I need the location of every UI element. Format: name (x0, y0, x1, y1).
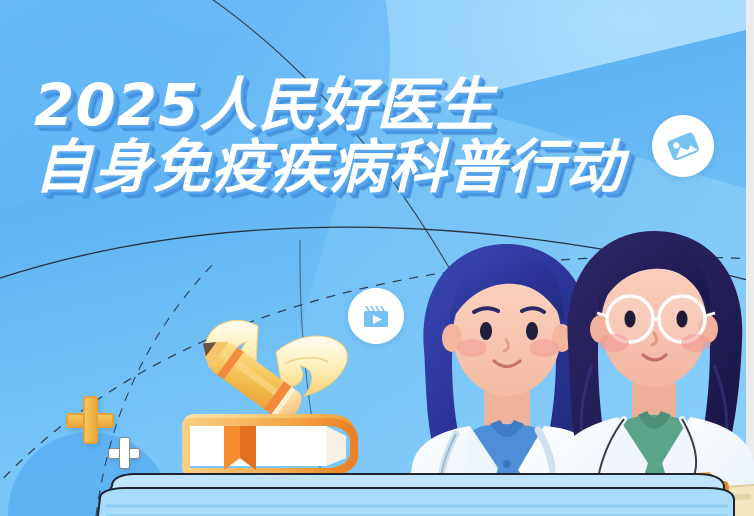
video-icon[interactable] (348, 288, 404, 344)
plus-orange-decoration (66, 396, 114, 444)
photo-icon-glyph (665, 128, 701, 164)
plus-white-decoration (108, 437, 140, 469)
title-line-2: 自身免疫疾病科普行动 (34, 140, 624, 196)
doctor-right-illustration (548, 215, 754, 516)
podium-illustration (96, 472, 736, 516)
video-icon-glyph (360, 300, 392, 332)
title-line-1: 2025人民好医生 (34, 78, 624, 134)
photo-icon[interactable] (652, 115, 714, 177)
page-title: 2025人民好医生 自身免疫疾病科普行动 (34, 78, 624, 195)
poster-canvas: 2025人民好医生 自身免疫疾病科普行动 (0, 0, 754, 516)
